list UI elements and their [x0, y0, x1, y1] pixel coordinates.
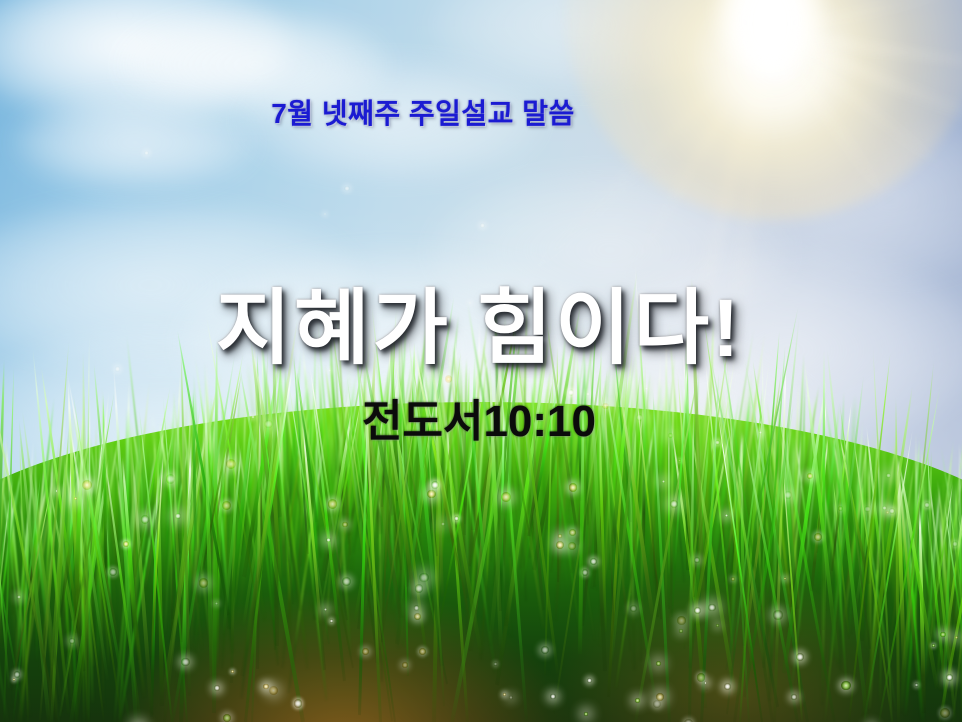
grass-blade	[917, 508, 943, 677]
sparkle-dot	[708, 604, 716, 612]
sparkle-dot	[784, 577, 787, 580]
grass-blade	[933, 503, 937, 639]
sparkle-dot	[940, 632, 945, 637]
grass-blade	[41, 511, 57, 664]
grass-blade	[33, 513, 47, 611]
sparkle-dot	[582, 569, 588, 575]
grass-blade	[12, 492, 31, 707]
grass-blade	[947, 487, 962, 722]
sparkle-dot	[342, 577, 351, 586]
page-title: 지혜가 힘이다!	[0, 288, 962, 370]
grass-blade	[952, 521, 961, 688]
sparkle-dot	[841, 681, 851, 691]
sparkle-dot	[677, 616, 686, 625]
grass-blade	[930, 501, 941, 690]
grass-blade	[945, 523, 959, 652]
sparkle-dot	[635, 698, 640, 703]
sparkle-dot	[263, 684, 269, 690]
sparkle-dot	[731, 577, 735, 581]
grass-blade	[937, 513, 954, 666]
sparkle-dot	[17, 595, 21, 599]
sparkle-dot	[716, 624, 719, 627]
grass-blade	[11, 498, 31, 687]
grass-blade	[942, 487, 953, 722]
sparkle-dot	[915, 683, 918, 686]
sparkle-dot	[940, 708, 950, 718]
sparkle-dot	[181, 658, 190, 667]
sparkle-dot	[656, 661, 661, 666]
sparkle-dot	[630, 605, 637, 612]
sparkle-dot	[324, 608, 327, 611]
sparkle-dot	[952, 541, 958, 547]
grass-blade	[58, 496, 73, 707]
grass-blade	[42, 512, 53, 627]
sparkle-dot	[402, 662, 408, 668]
sparkle-dot	[414, 605, 420, 611]
sparkle-dot	[509, 696, 513, 700]
sparkle-dot	[503, 693, 506, 696]
sparkle-dot	[199, 578, 208, 587]
sparkle-dot	[69, 638, 75, 644]
sparkle-dot	[326, 538, 331, 543]
sparkle-dot	[704, 682, 707, 685]
sparkle-dot	[814, 533, 822, 541]
grass-blade	[882, 503, 899, 630]
sparkle-dot	[946, 674, 953, 681]
sparkle-dot	[656, 693, 664, 701]
sparkle-dot	[569, 529, 576, 536]
sparkle-dot	[724, 683, 732, 691]
grass-blade	[904, 498, 923, 720]
sparkle-dot	[550, 694, 556, 700]
sparkle-dot	[362, 648, 369, 655]
grass-blade	[0, 495, 11, 722]
grass-blade	[957, 521, 962, 653]
scripture-reference: 전도서10:10	[0, 400, 962, 444]
sparkle-dot	[796, 653, 804, 661]
grass-blade	[918, 507, 930, 658]
grass-blade	[945, 510, 953, 584]
sparkle-dot	[414, 613, 421, 620]
grass-blade	[950, 513, 954, 635]
sparkle-dot	[223, 714, 231, 722]
sparkle-dot	[694, 557, 700, 563]
sparkle-dot	[215, 602, 218, 605]
sparkle-dot	[13, 678, 16, 681]
sparkle-dot	[330, 619, 333, 622]
sparkle-dot	[584, 712, 588, 716]
grass-blade	[33, 508, 53, 659]
sparkle-dot	[587, 678, 592, 683]
grass-blade	[956, 532, 962, 695]
sparkle-dot	[14, 671, 21, 678]
grass-blade	[0, 526, 10, 689]
sparkle-dot	[558, 534, 562, 538]
grass-blade	[69, 495, 84, 678]
sparkle-dot	[214, 685, 220, 691]
grass-blade	[1, 500, 16, 645]
sparkle-dot	[419, 573, 429, 583]
sparkle-dot	[342, 522, 347, 527]
sparkle-dot	[590, 558, 597, 565]
sparkle-dot	[109, 568, 117, 576]
grass-blade	[917, 503, 925, 713]
sparkle-dot	[541, 646, 549, 654]
sparkle-dot	[294, 699, 302, 707]
sparkle-dot	[231, 670, 234, 673]
sparkle-dot	[415, 584, 424, 593]
sparkle-dot	[419, 648, 426, 655]
sparkle-dot	[955, 636, 958, 639]
grass-blade	[939, 504, 948, 656]
sparkle-dot	[932, 644, 935, 647]
sparkle-dot	[679, 629, 683, 633]
grass-blade	[861, 489, 897, 711]
sermon-series-label: 7월 넷째주 주일설교 말씀	[0, 92, 962, 132]
sparkle-dot	[441, 522, 445, 526]
sparkle-dot	[123, 541, 129, 547]
grass-blade	[28, 510, 38, 604]
grass-blade	[955, 505, 962, 714]
sparkle-dot	[791, 694, 797, 700]
sparkle-dot	[568, 542, 576, 550]
sparkle-dot	[494, 662, 497, 665]
sparkle-dot	[269, 686, 278, 695]
grass-blade	[22, 510, 30, 719]
sparkle-dot	[556, 541, 564, 549]
grass-blade	[943, 500, 962, 702]
sparkle-dot	[773, 610, 783, 620]
grass-blade	[928, 516, 945, 645]
sparkle-dot	[653, 700, 661, 708]
grass-blade	[940, 513, 945, 676]
sparkle-dot	[694, 607, 701, 614]
grass-blade	[958, 511, 962, 599]
grass-blade	[938, 492, 954, 711]
grass-blade	[925, 509, 947, 701]
grass-blade	[0, 530, 1, 611]
sermon-title-slide: 7월 넷째주 주일설교 말씀 지혜가 힘이다! 전도서10:10	[0, 0, 962, 722]
sparkle-dot	[697, 673, 706, 682]
